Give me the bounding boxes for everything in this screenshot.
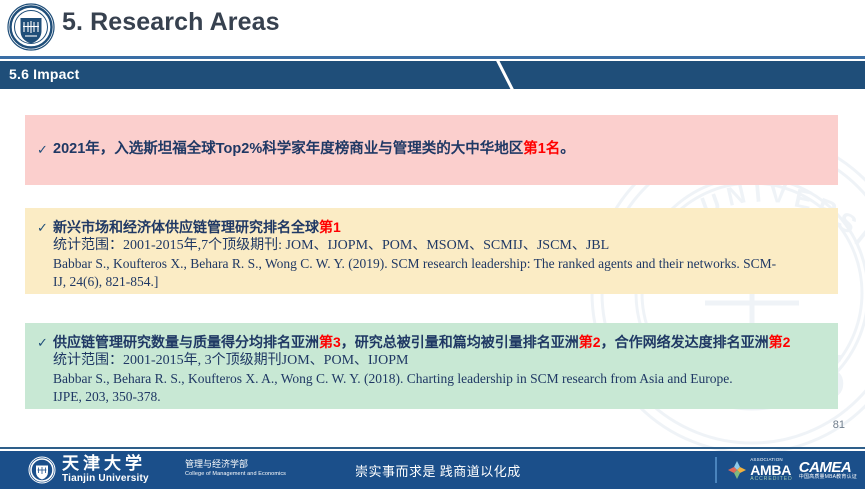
asia-ranking-rank-1: 第3 — [319, 334, 341, 350]
tianjin-university-seal-icon — [6, 2, 56, 52]
asia-ranking-citation-line1: Babbar S., Behara R. S., Koufteros X. A.… — [53, 370, 826, 388]
content-area: ✓ 2021年，入选斯坦福全球Top2%科学家年度榜商业与管理类的大中华地区第1… — [0, 89, 865, 419]
footer-university: 天津大学 Tianjin University — [62, 455, 149, 485]
global-ranking-scope: 统计范围：2001-2015年,7个顶级期刊: JOM、IJOPM、POM、MS… — [53, 237, 826, 255]
amba-diamond-icon — [727, 460, 747, 480]
check-icon: ✓ — [37, 333, 53, 349]
accreditation-logos: ASSOCIATION AMBA ACCREDITED CAMEA 中国高质量M… — [715, 455, 857, 485]
award-headline-post: 。 — [560, 141, 575, 157]
amba-main-label: AMBA — [750, 463, 793, 477]
camea-logo: CAMEA 中国高质量MBA教育认证 — [799, 460, 857, 480]
asia-ranking-headline-pre: 供应链管理研究数量与质量得分均排名亚洲 — [53, 334, 319, 350]
camea-main-label: CAMEA — [799, 460, 857, 475]
amba-accredited-label: ACCREDITED — [750, 477, 793, 482]
page-title: 5. Research Areas — [62, 8, 280, 37]
award-headline: 2021年，入选斯坦福全球Top2%科学家年度榜商业与管理类的大中华地区第1名。 — [53, 140, 575, 160]
slide-footer: 天津大学 Tianjin University 管理与经济学部 College … — [0, 451, 865, 489]
slide-header: 5. Research Areas — [0, 0, 865, 56]
asia-ranking-citation-line2: IJPE, 203, 350-378. — [53, 388, 826, 406]
global-ranking-headline: 新兴市场和经济体供应链管理研究排名全球第1 — [53, 218, 826, 237]
band-slash-decoration — [495, 61, 519, 89]
section-label: 5.6 Impact — [9, 66, 79, 82]
footer-divider — [715, 457, 717, 483]
footer-university-en: Tianjin University — [62, 473, 149, 485]
asia-ranking-headline: 供应链管理研究数量与质量得分均排名亚洲第3，研究总被引量和篇均被引量排名亚洲第2… — [53, 333, 826, 352]
global-ranking-citation-line2: IJ, 24(6), 821-854.] — [53, 273, 826, 291]
footer-motto: 崇实事而求是 践商道以化成 — [355, 461, 521, 480]
asia-ranking-rank-3: 第2 — [769, 334, 791, 350]
asia-ranking-box: ✓ 供应链管理研究数量与质量得分均排名亚洲第3，研究总被引量和篇均被引量排名亚洲… — [25, 323, 838, 409]
award-box: ✓ 2021年，入选斯坦福全球Top2%科学家年度榜商业与管理类的大中华地区第1… — [25, 115, 838, 185]
footer-university-cn: 天津大学 — [62, 455, 149, 473]
asia-ranking-scope: 统计范围：2001-2015年, 3个顶级期刊JOM、POM、IJOPM — [53, 352, 826, 370]
footer-college-cn: 管理与经济学部 — [185, 459, 286, 470]
award-rank: 第1名 — [523, 141, 560, 157]
global-ranking-citation-line1: Babbar S., Koufteros X., Behara R. S., W… — [53, 255, 826, 273]
tianjin-university-seal-icon — [28, 456, 56, 484]
footer-college: 管理与经济学部 College of Management and Econom… — [185, 459, 286, 478]
award-headline-pre: 2021年，入选斯坦福全球Top2%科学家年度榜商业与管理类的大中华地区 — [53, 141, 523, 157]
section-band: 5.6 Impact — [0, 61, 865, 89]
global-ranking-headline-pre: 新兴市场和经济体供应链管理研究排名全球 — [53, 219, 319, 235]
camea-sub-label: 中国高质量MBA教育认证 — [799, 475, 857, 480]
global-ranking-box: ✓ 新兴市场和经济体供应链管理研究排名全球第1 统计范围：2001-2015年,… — [25, 208, 838, 294]
footer-college-en: College of Management and Economics — [185, 470, 286, 478]
check-icon: ✓ — [37, 218, 53, 234]
global-ranking-rank: 第1 — [319, 219, 341, 235]
page-number: 81 — [833, 419, 845, 431]
asia-ranking-rank-2: 第2 — [579, 334, 601, 350]
asia-ranking-headline-mid: ，研究总被引量和篇均被引量排名亚洲 — [341, 334, 579, 350]
amba-logo: ASSOCIATION AMBA ACCREDITED — [727, 458, 793, 482]
asia-ranking-headline-mid2: ，合作网络发达度排名亚洲 — [601, 334, 769, 350]
footer-rule — [0, 447, 865, 449]
amba-text: ASSOCIATION AMBA ACCREDITED — [750, 458, 793, 482]
check-icon: ✓ — [37, 140, 53, 156]
